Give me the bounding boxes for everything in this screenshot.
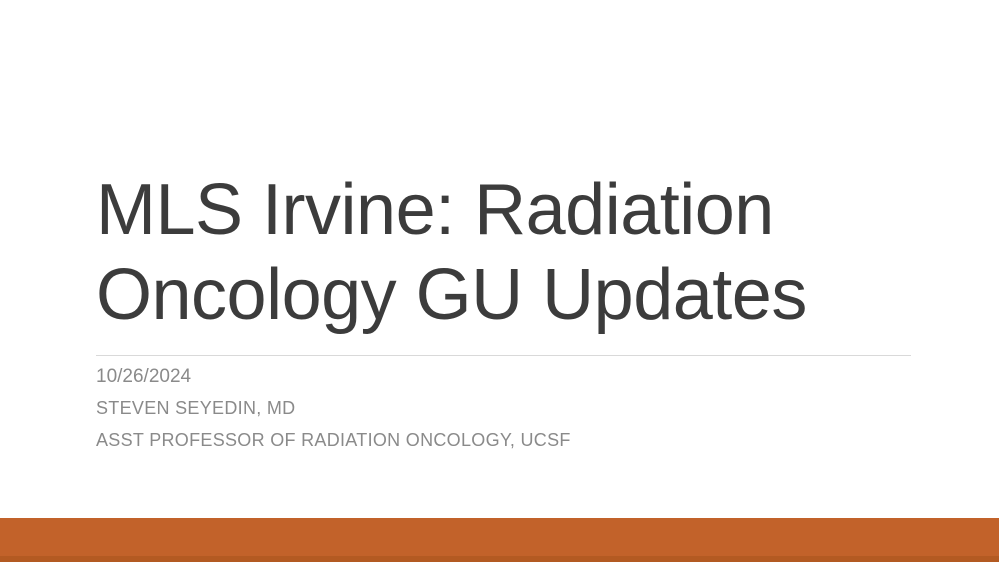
subtitle-block: 10/26/2024 STEVEN SEYEDIN, MD ASST PROFE… bbox=[96, 364, 916, 460]
accent-footer-bar-shadow bbox=[0, 556, 999, 562]
accent-footer-bar bbox=[0, 518, 999, 562]
title-block: MLS Irvine: Radiation Oncology GU Update… bbox=[96, 168, 916, 338]
title-divider bbox=[96, 355, 911, 356]
presentation-date: 10/26/2024 bbox=[96, 364, 916, 389]
presenter-name: STEVEN SEYEDIN, MD bbox=[96, 396, 916, 421]
presenter-affiliation: ASST PROFESSOR OF RADIATION ONCOLOGY, UC… bbox=[96, 428, 916, 453]
presentation-slide: MLS Irvine: Radiation Oncology GU Update… bbox=[0, 0, 999, 562]
page-title: MLS Irvine: Radiation Oncology GU Update… bbox=[96, 168, 916, 338]
